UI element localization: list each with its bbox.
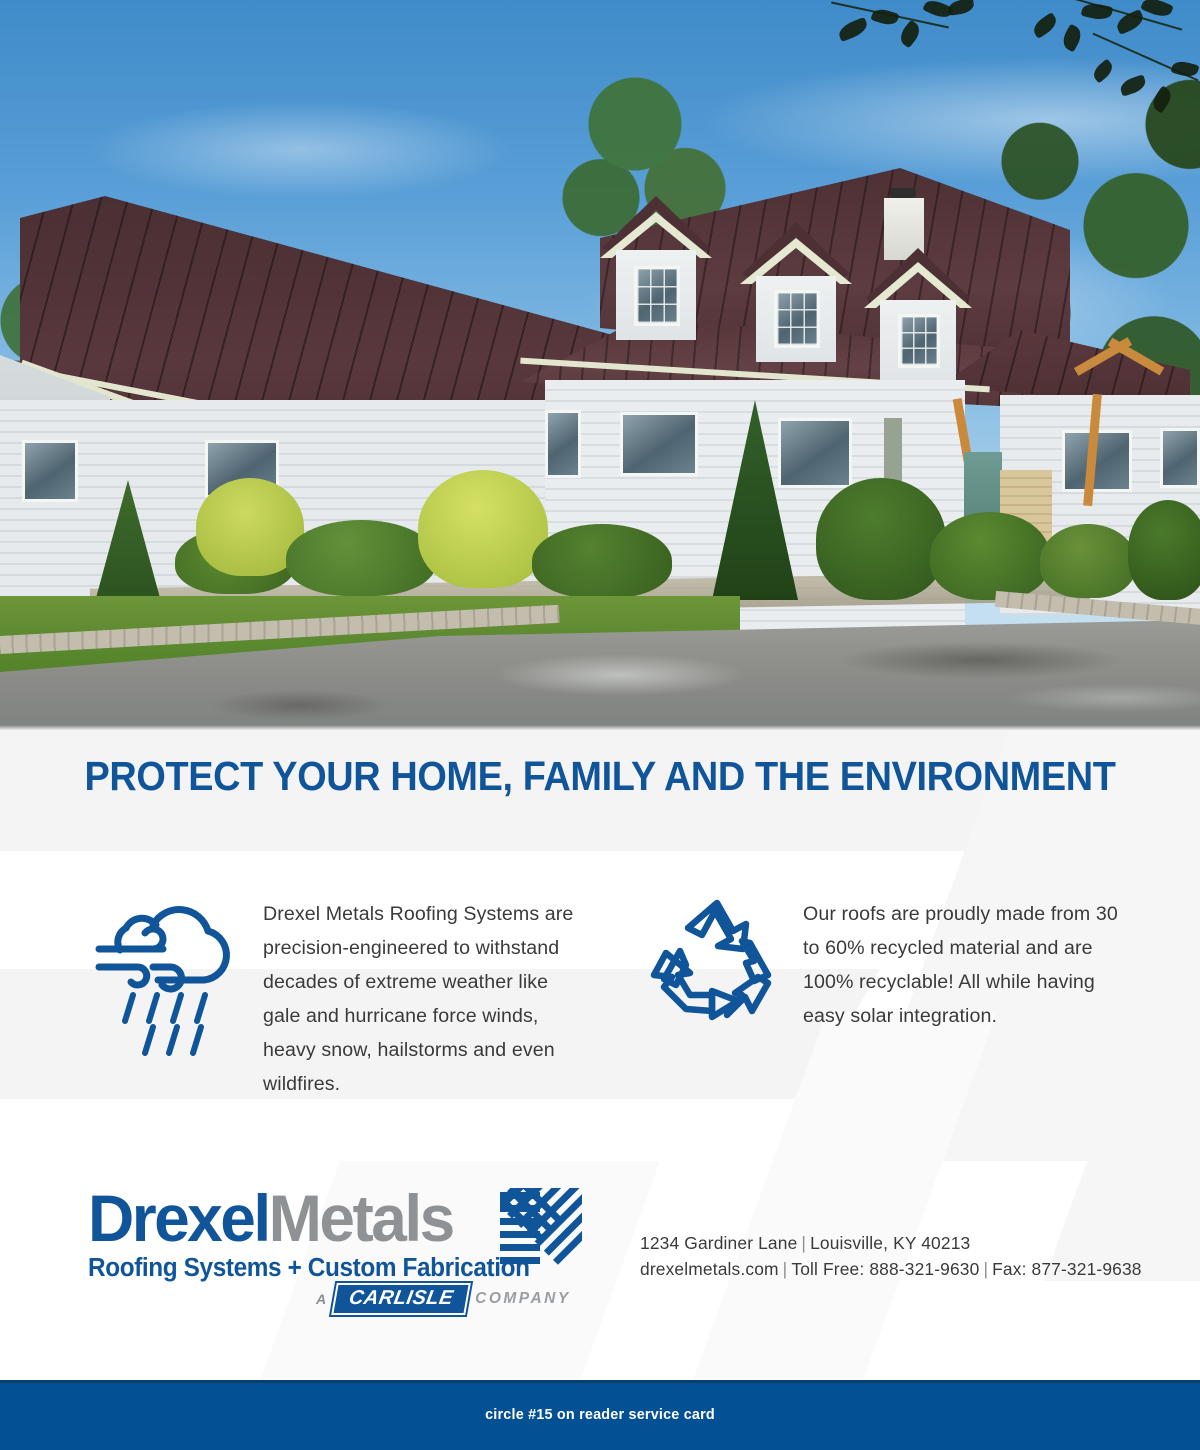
dormer-window-2 (774, 290, 820, 348)
window-mid-2 (620, 412, 698, 476)
shrub-7 (1128, 500, 1200, 600)
feature-text-weather: Drexel Metals Roofing Systems are precis… (263, 897, 575, 1101)
recycle-icon (650, 891, 785, 1031)
window-right-2 (1160, 428, 1200, 488)
parent-company-suffix: COMPANY (475, 1290, 571, 1308)
brand-wordmark: DrexelMetals (88, 1185, 537, 1251)
contact-city-state-zip: Louisville, KY 40213 (810, 1233, 970, 1253)
window-mid-3 (778, 418, 852, 488)
feature-text-recycling: Our roofs are proudly made from 30 to 60… (803, 897, 1138, 1033)
contact-website[interactable]: drexelmetals.com (640, 1259, 779, 1279)
separator: | (979, 1259, 992, 1279)
golden-shrub-2 (418, 470, 548, 588)
parent-company-prefix: A (316, 1291, 327, 1307)
contact-line-address: 1234 Gardiner Lane|Louisville, KY 40213 (640, 1230, 1142, 1256)
shrub-5 (930, 512, 1050, 600)
separator: | (797, 1233, 810, 1253)
page-title: PROTECT YOUR HOME, FAMILY AND THE ENVIRO… (39, 753, 1161, 800)
feature-item-recycling: Our roofs are proudly made from 30 to 60… (650, 891, 1160, 1033)
brand-logo: DrexelMetals Roofing Systems + Custom Fa… (88, 1185, 550, 1283)
contact-line-web: drexelmetals.com|Toll Free: 888-321-9630… (640, 1256, 1142, 1282)
shrub-4 (816, 478, 946, 600)
reader-service-bar: circle #15 on reader service card (0, 1380, 1200, 1450)
reader-service-text: circle #15 on reader service card (0, 1380, 1200, 1450)
foreground-branches (820, 0, 1200, 135)
contact-info: 1234 Gardiner Lane|Louisville, KY 40213 … (640, 1230, 1142, 1282)
brand-word-metals: Metals (269, 1181, 453, 1255)
brand-tagline: Roofing Systems + Custom Fabrication (88, 1254, 530, 1283)
window-mid-1 (545, 410, 581, 478)
feature-item-weather: Drexel Metals Roofing Systems are precis… (95, 891, 595, 1101)
dormer-window-3 (898, 314, 940, 368)
shrub-3 (532, 524, 672, 598)
hero-photo (0, 0, 1200, 731)
parent-company-logo: A CARLISLE COMPANY (316, 1283, 571, 1315)
shrub-6 (1040, 524, 1136, 598)
brand-word-drexel: Drexel (88, 1181, 269, 1255)
storm-cloud-rain-wind-icon (95, 891, 241, 1061)
carlisle-name: CARLISLE (347, 1287, 455, 1310)
contact-fax: Fax: 877-321-9638 (992, 1259, 1142, 1279)
dormer-window-1 (634, 266, 680, 326)
carlisle-badge: CARLISLE (331, 1283, 471, 1315)
contact-address: 1234 Gardiner Lane (640, 1233, 797, 1253)
window-left-1 (22, 440, 78, 502)
shrub-2 (286, 520, 436, 596)
diagonal-stripes-square-icon (500, 1188, 582, 1268)
advertisement-page: PROTECT YOUR HOME, FAMILY AND THE ENVIRO… (0, 0, 1200, 1450)
chimney-cap (890, 188, 916, 198)
contact-toll-free: Toll Free: 888-321-9630 (791, 1259, 979, 1279)
separator: | (779, 1259, 792, 1279)
